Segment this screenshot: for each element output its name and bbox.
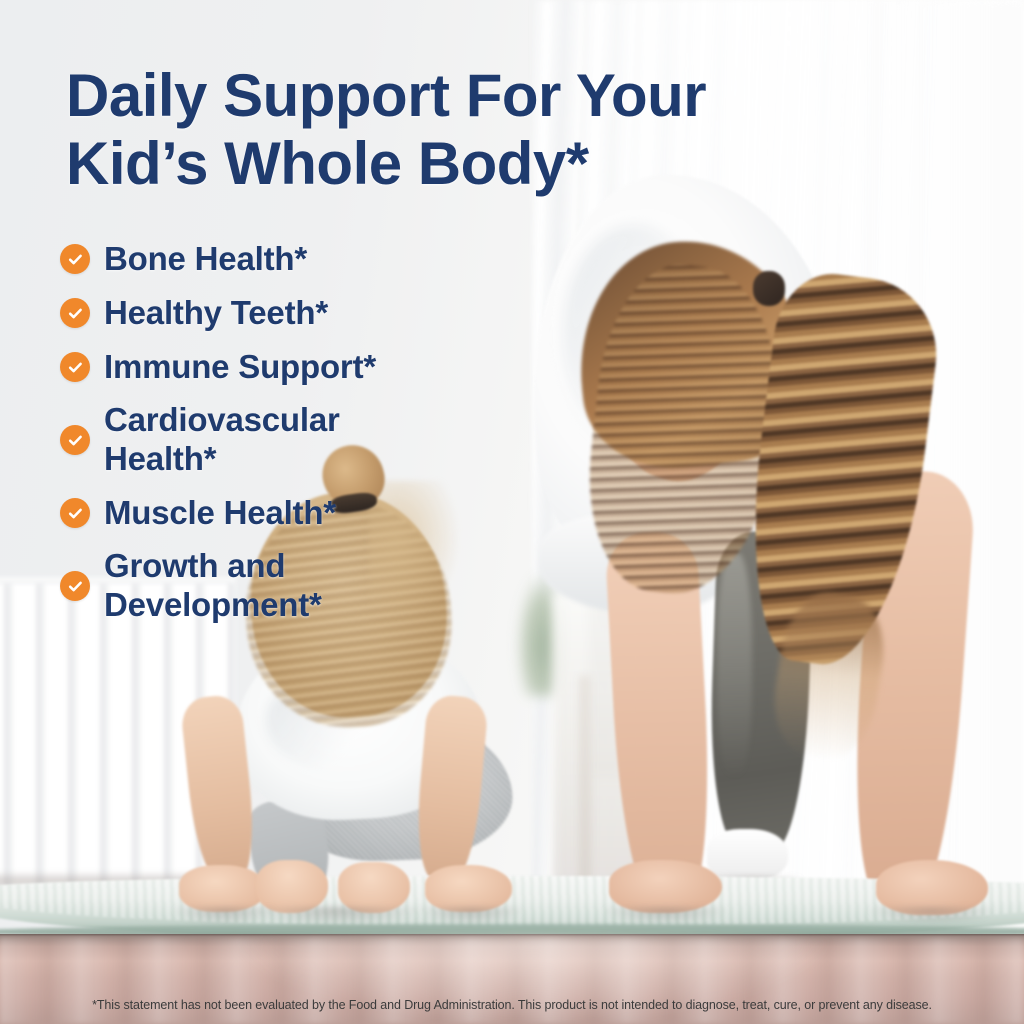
list-item: Bone Health*: [60, 236, 530, 282]
check-circle-icon: [60, 425, 90, 455]
check-circle-icon: [60, 498, 90, 528]
benefit-label: Healthy Teeth*: [104, 294, 328, 333]
list-item: Immune Support*: [60, 344, 530, 390]
list-item: Cardiovascular Health*: [60, 398, 530, 482]
benefits-list: Bone Health* Healthy Teeth* Immune Suppo…: [60, 236, 530, 636]
benefit-label: Cardiovascular Health*: [104, 401, 434, 478]
promotional-poster: Daily Support For Your Kid’s Whole Body*…: [0, 0, 1024, 1024]
benefit-label: Muscle Health*: [104, 494, 336, 533]
headline-line-1: Daily Support For Your: [66, 62, 906, 130]
list-item: Growth and Development*: [60, 544, 530, 628]
benefit-label: Bone Health*: [104, 240, 307, 279]
fda-disclaimer: *This statement has not been evaluated b…: [0, 998, 1024, 1013]
check-circle-icon: [60, 298, 90, 328]
check-circle-icon: [60, 244, 90, 274]
text-overlay: Daily Support For Your Kid’s Whole Body*…: [0, 0, 1024, 1024]
headline-line-2: Kid’s Whole Body*: [66, 130, 906, 198]
check-circle-icon: [60, 352, 90, 382]
page-title: Daily Support For Your Kid’s Whole Body*: [66, 62, 906, 198]
benefit-label: Immune Support*: [104, 348, 376, 387]
check-circle-icon: [60, 571, 90, 601]
benefit-label: Growth and Development*: [104, 547, 404, 624]
list-item: Muscle Health*: [60, 490, 530, 536]
list-item: Healthy Teeth*: [60, 290, 530, 336]
